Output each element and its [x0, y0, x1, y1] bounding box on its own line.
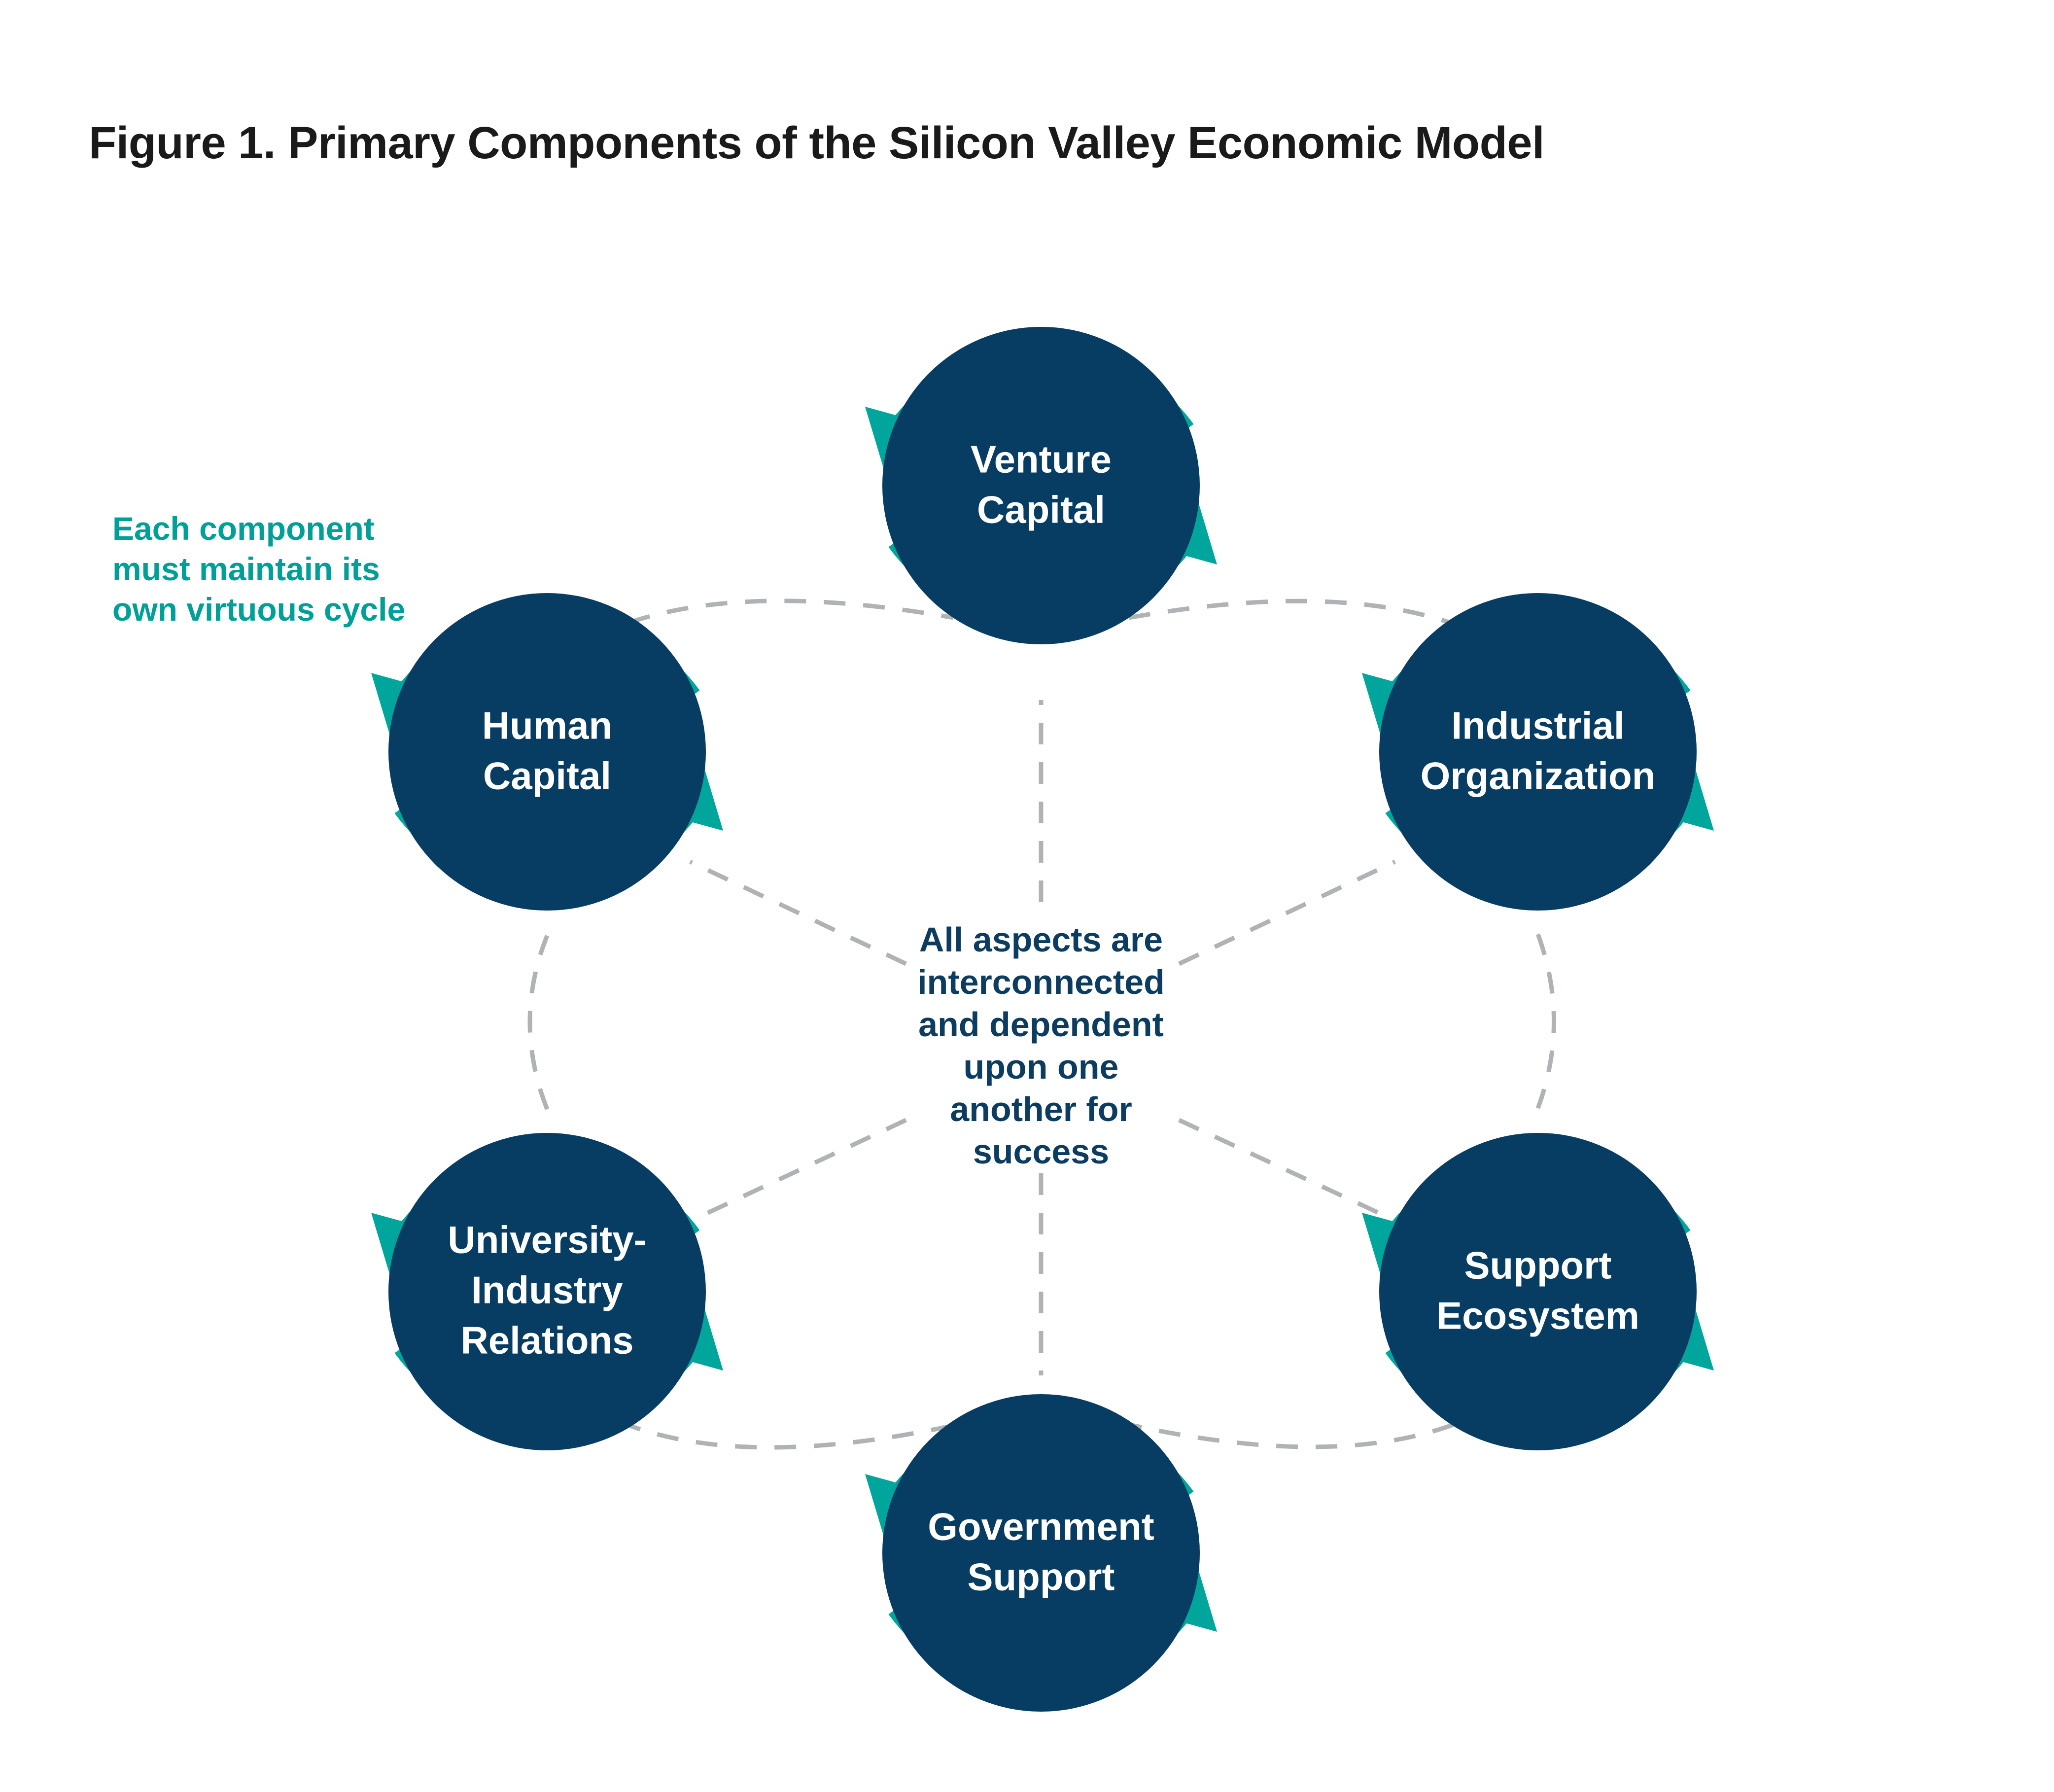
dashed-connector-line — [1179, 1120, 1389, 1218]
node-label-line: Support — [1464, 1244, 1612, 1287]
node-industrial-organization[interactable]: Industrial Organization — [1362, 593, 1714, 911]
node-label-line: Organization — [1421, 754, 1656, 798]
dashed-connector-line — [1538, 934, 1554, 1108]
node-label-line: Capital — [483, 754, 611, 798]
node-label-line: Industry — [471, 1268, 623, 1312]
center-note-line: success — [973, 1132, 1109, 1171]
dashed-connector-line — [1129, 601, 1453, 624]
center-note-line: All aspects are — [919, 920, 1163, 959]
center-note-line: interconnected — [917, 963, 1165, 1001]
node-circle[interactable] — [882, 1394, 1200, 1712]
node-circle[interactable] — [882, 327, 1200, 644]
node-human-capital[interactable]: Human Capital — [371, 593, 723, 911]
diagram-canvas: Venture Capital Industrial Organization — [0, 0, 2054, 1792]
side-note-line: Each component — [112, 510, 375, 547]
node-venture-capital[interactable]: Venture Capital — [865, 327, 1217, 644]
center-note-line: upon one — [964, 1048, 1119, 1086]
side-note-line: own virtuous cycle — [112, 591, 405, 628]
node-label-line: Venture — [971, 438, 1112, 481]
node-label-line: Capital — [977, 488, 1105, 531]
dashed-connector-line — [530, 936, 547, 1109]
node-label-line: Human — [482, 704, 612, 747]
node-label-line: Government — [928, 1505, 1154, 1548]
dashed-connector-line — [690, 862, 906, 964]
node-label-line: Support — [968, 1555, 1115, 1599]
node-circle[interactable] — [1379, 593, 1697, 911]
node-support-ecosystem[interactable]: Support Ecosystem — [1362, 1133, 1714, 1450]
node-circle[interactable] — [388, 593, 706, 911]
center-note-line: and dependent — [918, 1005, 1164, 1044]
node-label-line: Ecosystem — [1436, 1294, 1639, 1337]
dashed-connector-line — [629, 601, 953, 623]
figure-root: Figure 1. Primary Components of the Sili… — [0, 0, 2054, 1792]
node-circle[interactable] — [1379, 1133, 1697, 1450]
dashed-connector-line — [630, 1426, 952, 1447]
interconnection-note: All aspects are interconnected and depen… — [917, 920, 1165, 1171]
node-label-line: University- — [448, 1218, 646, 1262]
node-label-line: Industrial — [1451, 704, 1624, 747]
dashed-connector-line — [697, 1120, 906, 1218]
node-university-industry-relations[interactable]: University- Industry Relations — [371, 1133, 723, 1450]
side-note-line: must maintain its — [112, 551, 380, 587]
node-label-line: Relations — [460, 1319, 633, 1362]
node-government-support[interactable]: Government Support — [865, 1394, 1217, 1712]
dashed-connector-line — [1130, 1425, 1453, 1447]
dashed-connector-line — [1179, 862, 1395, 964]
virtuous-cycle-note: Each component must maintain its own vir… — [112, 510, 405, 628]
center-note-line: another for — [950, 1090, 1132, 1128]
